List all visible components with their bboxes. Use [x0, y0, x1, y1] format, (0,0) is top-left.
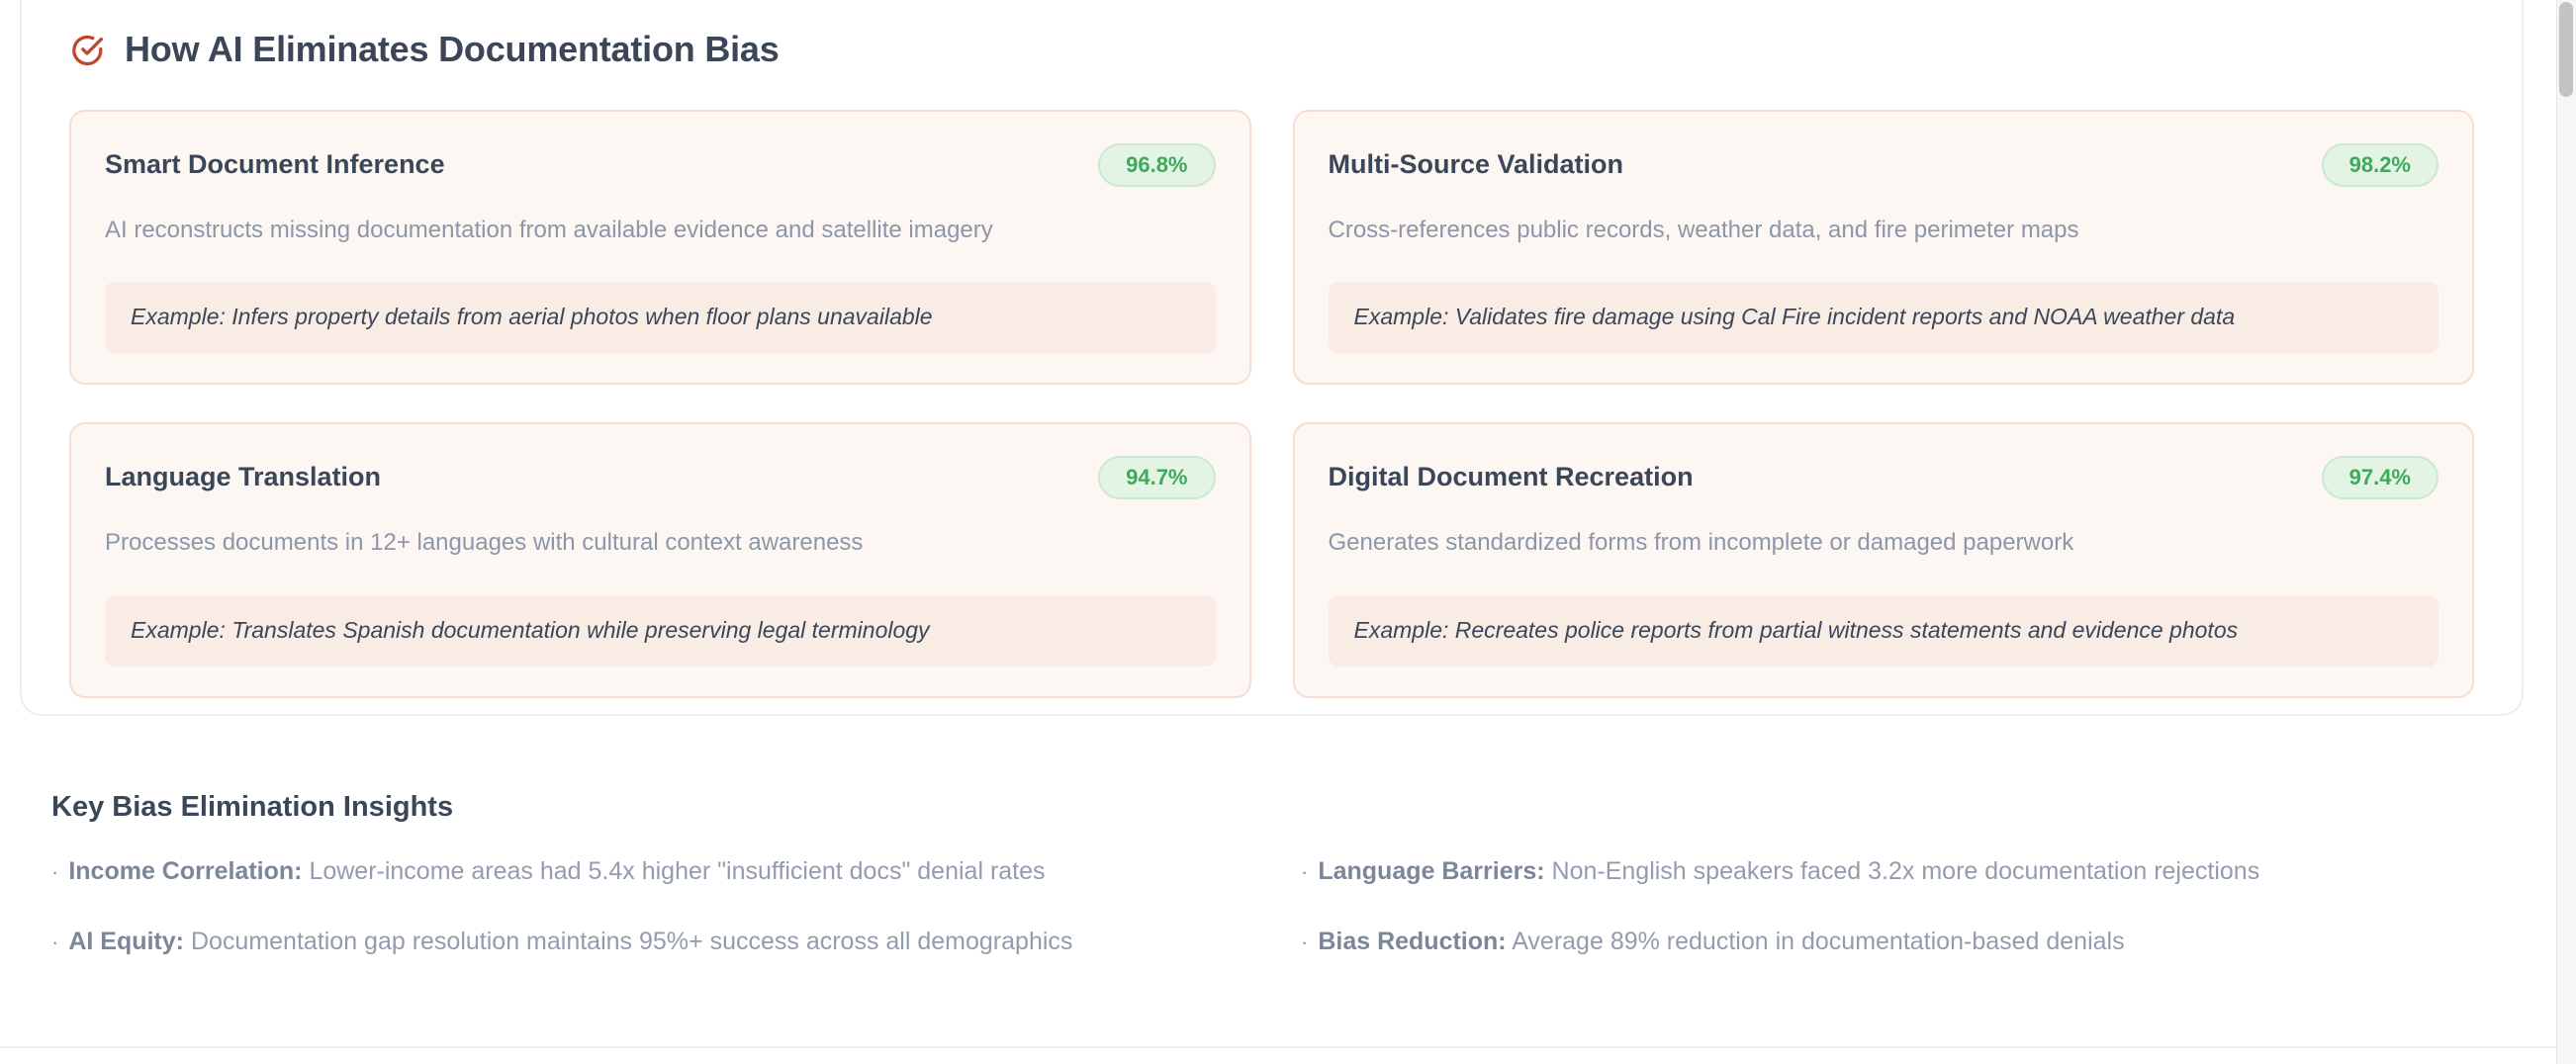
page-root: How AI Eliminates Documentation Bias Sma…: [0, 0, 2576, 1064]
insights-grid: · Income Correlation: Lower-income areas…: [51, 855, 2495, 957]
bottom-divider: [0, 1046, 2576, 1048]
card-header: Language Translation 94.7%: [105, 456, 1216, 499]
card-description: Cross-references public records, weather…: [1329, 215, 2439, 246]
card-example: Example: Infers property details from ae…: [105, 282, 1216, 353]
bullet-icon: ·: [51, 861, 58, 883]
insight-text: Documentation gap resolution maintains 9…: [191, 928, 1072, 955]
insight-text: Average 89% reduction in documentation-b…: [1512, 928, 2124, 955]
panel-header: How AI Eliminates Documentation Bias: [22, 0, 2522, 68]
insight-item: · AI Equity: Documentation gap resolutio…: [51, 926, 1245, 958]
card-title: Smart Document Inference: [105, 150, 445, 180]
insight-label: Language Barriers:: [1318, 857, 1544, 885]
insight-label: Income Correlation:: [68, 857, 302, 885]
insights-title: Key Bias Elimination Insights: [51, 791, 2495, 824]
capability-card[interactable]: Digital Document Recreation 97.4% Genera…: [1293, 422, 2475, 697]
card-title: Language Translation: [105, 463, 381, 492]
card-description: AI reconstructs missing documentation fr…: [105, 215, 1216, 246]
card-example: Example: Translates Spanish documentatio…: [105, 595, 1216, 666]
bullet-icon: ·: [1301, 931, 1308, 953]
page-title: How AI Eliminates Documentation Bias: [125, 32, 780, 67]
card-description: Generates standardized forms from incomp…: [1329, 527, 2439, 559]
card-example: Example: Recreates police reports from p…: [1329, 595, 2439, 666]
vertical-scrollbar[interactable]: [2556, 0, 2576, 1064]
accuracy-badge: 97.4%: [2322, 456, 2438, 499]
capability-card[interactable]: Multi-Source Validation 98.2% Cross-refe…: [1293, 110, 2475, 385]
card-example: Example: Validates fire damage using Cal…: [1329, 282, 2439, 353]
card-header: Multi-Source Validation 98.2%: [1329, 143, 2439, 187]
accuracy-badge: 98.2%: [2322, 143, 2438, 187]
card-title: Digital Document Recreation: [1329, 463, 1694, 492]
capability-card[interactable]: Language Translation 94.7% Processes doc…: [69, 422, 1251, 697]
documentation-bias-panel: How AI Eliminates Documentation Bias Sma…: [20, 0, 2524, 716]
insight-text: Non-English speakers faced 3.2x more doc…: [1552, 857, 2260, 885]
accuracy-badge: 94.7%: [1098, 456, 1215, 499]
card-title: Multi-Source Validation: [1329, 150, 1624, 180]
bullet-icon: ·: [1301, 861, 1308, 883]
card-header: Smart Document Inference 96.8%: [105, 143, 1216, 187]
capability-card-grid: Smart Document Inference 96.8% AI recons…: [22, 68, 2522, 698]
card-header: Digital Document Recreation 97.4%: [1329, 456, 2439, 499]
insight-text: Lower-income areas had 5.4x higher "insu…: [309, 857, 1045, 885]
bullet-icon: ·: [51, 931, 58, 953]
insight-item: · Language Barriers: Non-English speaker…: [1301, 855, 2495, 888]
insight-item: · Bias Reduction: Average 89% reduction …: [1301, 926, 2495, 958]
insight-item: · Income Correlation: Lower-income areas…: [51, 855, 1245, 888]
accuracy-badge: 96.8%: [1098, 143, 1215, 187]
key-insights-section: Key Bias Elimination Insights · Income C…: [51, 791, 2495, 957]
card-description: Processes documents in 12+ languages wit…: [105, 527, 1216, 559]
scrollbar-thumb[interactable]: [2559, 2, 2573, 97]
capability-card[interactable]: Smart Document Inference 96.8% AI recons…: [69, 110, 1251, 385]
circle-check-icon: [69, 33, 105, 68]
insight-label: AI Equity:: [68, 928, 184, 955]
insight-label: Bias Reduction:: [1318, 928, 1506, 955]
